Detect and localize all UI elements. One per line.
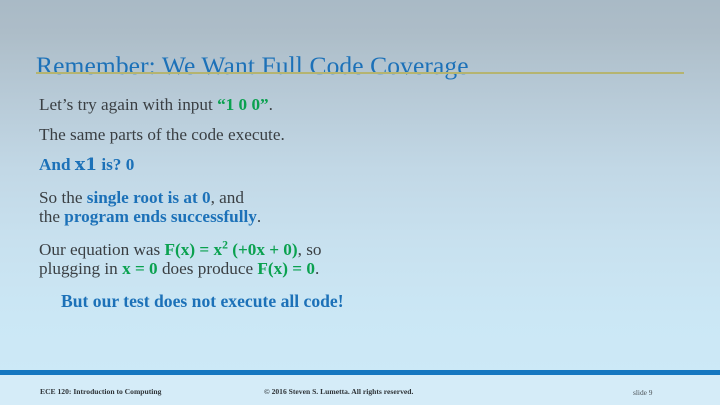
line5-equation-main: F(x) = x2 (+0x + 0): [165, 240, 298, 259]
footer-copyright-label: © 2016 Steven S. Lumetta. All rights res…: [264, 387, 413, 396]
footer-slide-number: slide 9: [633, 388, 653, 397]
line5-equation-result: F(x) = 0: [257, 259, 315, 278]
line3-variable-value: 0: [126, 155, 135, 174]
line4-emphasis-program-ends: program ends successfully: [64, 207, 257, 226]
footer-course-label: ECE 120: Introduction to Computing: [40, 387, 161, 396]
slide-canvas: Remember: We Want Full Code Coverage Let…: [0, 0, 720, 405]
title-underline-rule: [36, 72, 684, 74]
slide-title: Remember: We Want Full Code Coverage: [36, 51, 686, 81]
line5-equation-base: F(x) = x: [165, 240, 223, 259]
line5-second-prefix-text: plugging in: [39, 259, 122, 278]
line5-suffix-text: .: [315, 259, 319, 278]
line2-text: The same parts of the code execute.: [39, 125, 285, 144]
body-paragraph-4: So the single root is at 0, and the prog…: [39, 176, 679, 227]
line4-middle-text: , and: [211, 188, 244, 207]
line1-prefix-text: Let’s try again with input: [39, 95, 217, 114]
line3-middle-text: is?: [97, 155, 126, 174]
line5-middle-text: , so: [298, 240, 322, 259]
line1-suffix-text: .: [269, 95, 273, 114]
body-paragraph-3: And x1 is? 0: [39, 144, 679, 176]
slide-body: Let’s try again with input “1 0 0”. The …: [39, 92, 679, 311]
body-paragraph-2: The same parts of the code execute.: [39, 115, 679, 145]
line4-second-prefix-text: the: [39, 207, 64, 226]
line5-second-middle-text: does produce: [158, 259, 258, 278]
line5-equation-substitution: x = 0: [122, 259, 158, 278]
body-paragraph-5: Our equation was F(x) = x2 (+0x + 0), so…: [39, 227, 679, 279]
line3-prefix-text: And: [39, 155, 75, 174]
line4-prefix-text: So the: [39, 188, 87, 207]
body-paragraph-6-conclusion: But our test does not execute all code!: [39, 279, 679, 312]
line3-variable-name: x1: [75, 155, 97, 175]
line4-emphasis-single-root: single root is at 0: [87, 188, 211, 207]
line5-equation-terms: (+0x + 0): [228, 240, 298, 259]
line6-text: But our test does not execute all code!: [61, 291, 344, 311]
slide-footer: ECE 120: Introduction to Computing © 201…: [0, 375, 720, 405]
line5-prefix-text: Our equation was: [39, 240, 165, 259]
line1-input-value: “1 0 0”: [217, 95, 269, 114]
line4-suffix-text: .: [257, 207, 261, 226]
body-paragraph-1: Let’s try again with input “1 0 0”.: [39, 92, 679, 115]
